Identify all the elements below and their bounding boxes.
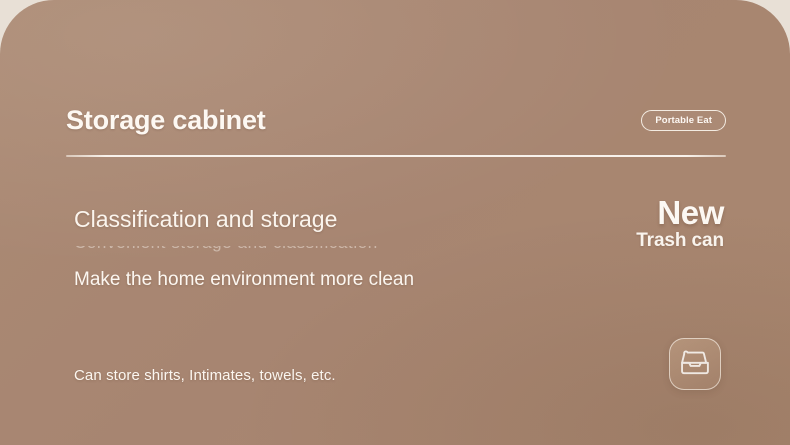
- product-tag-stack: New Trash can: [636, 196, 724, 251]
- new-label: New: [636, 196, 724, 229]
- status-badge[interactable]: Portable Eat: [641, 110, 726, 131]
- product-promo-card: Storage cabinet Portable Eat Classificat…: [0, 0, 790, 445]
- screenshot-stage: Storage cabinet Portable Eat Classificat…: [0, 0, 790, 445]
- storage-tray-glyph: [680, 350, 710, 378]
- headline-text: Classification and storage: [74, 206, 594, 233]
- subheadline-text: Make the home environment more clean: [74, 269, 414, 292]
- page-title: Storage cabinet: [66, 107, 266, 134]
- clipped-text-remnant-label: Convenient storage and classification: [74, 246, 378, 253]
- footnote-text: Can store shirts, Intimates, towels, etc…: [74, 367, 336, 384]
- header-divider: [66, 155, 726, 157]
- product-name-label: Trash can: [636, 231, 724, 251]
- clipped-text-remnant: Convenient storage and classification: [74, 246, 526, 261]
- storage-tray-icon[interactable]: [669, 338, 721, 390]
- copy-block: Classification and storage Convenient st…: [74, 206, 594, 233]
- card-header: Storage cabinet Portable Eat: [66, 98, 726, 142]
